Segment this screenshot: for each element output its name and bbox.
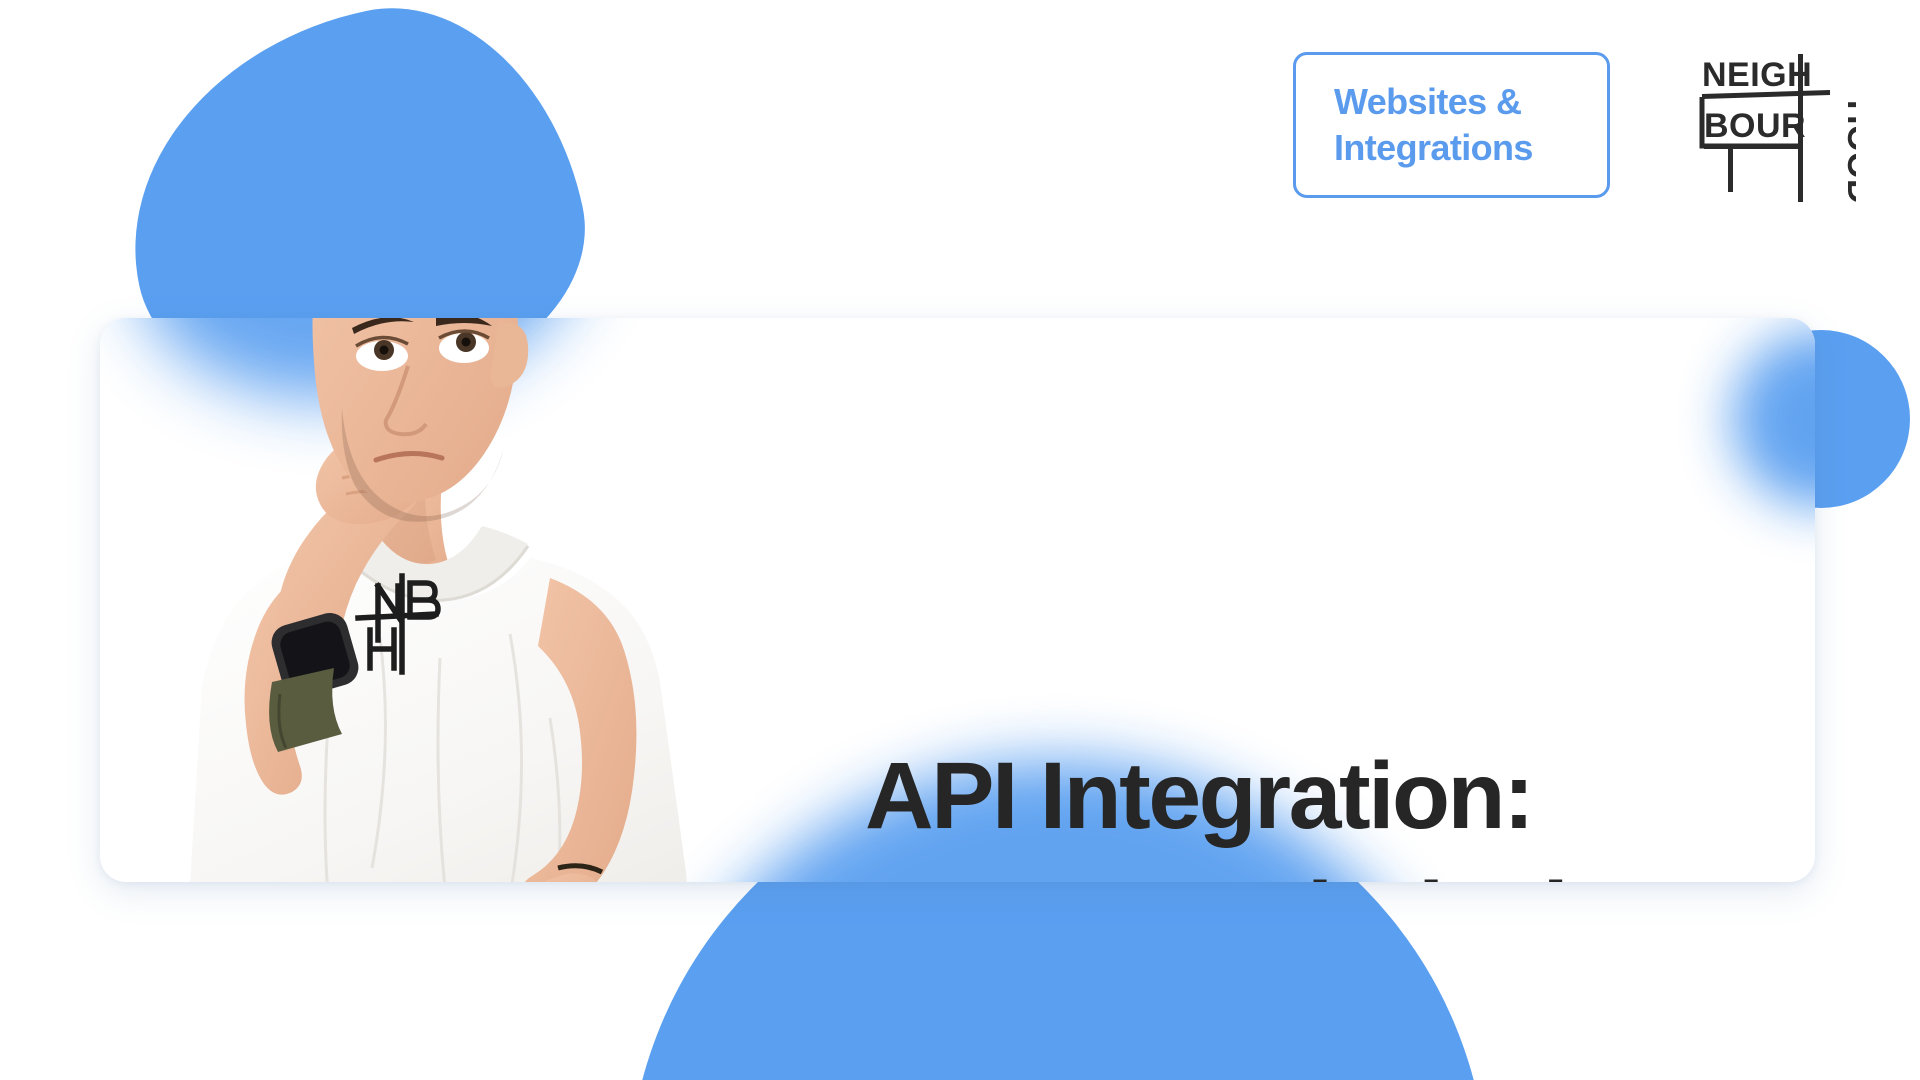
page-title: API Integration: A Non-Technical Guide f… [865, 736, 1815, 882]
logo-word-neigh: NEIGH [1702, 56, 1812, 94]
category-badge[interactable]: Websites & Integrations [1293, 52, 1610, 198]
category-badge-label: Websites & Integrations [1296, 79, 1533, 171]
logo-word-bour: BOUR [1704, 107, 1806, 145]
neighbourhood-logo[interactable]: NEIGH BOUR HOOD [1690, 42, 1856, 208]
poster-canvas: API Integration: A Non-Technical Guide f… [0, 0, 1920, 1080]
presenter-photo [100, 318, 700, 882]
logo-word-hood: HOOD [1840, 100, 1856, 204]
content-card: API Integration: A Non-Technical Guide f… [100, 318, 1815, 882]
blue-circle-bleed-icon [1732, 330, 1815, 508]
